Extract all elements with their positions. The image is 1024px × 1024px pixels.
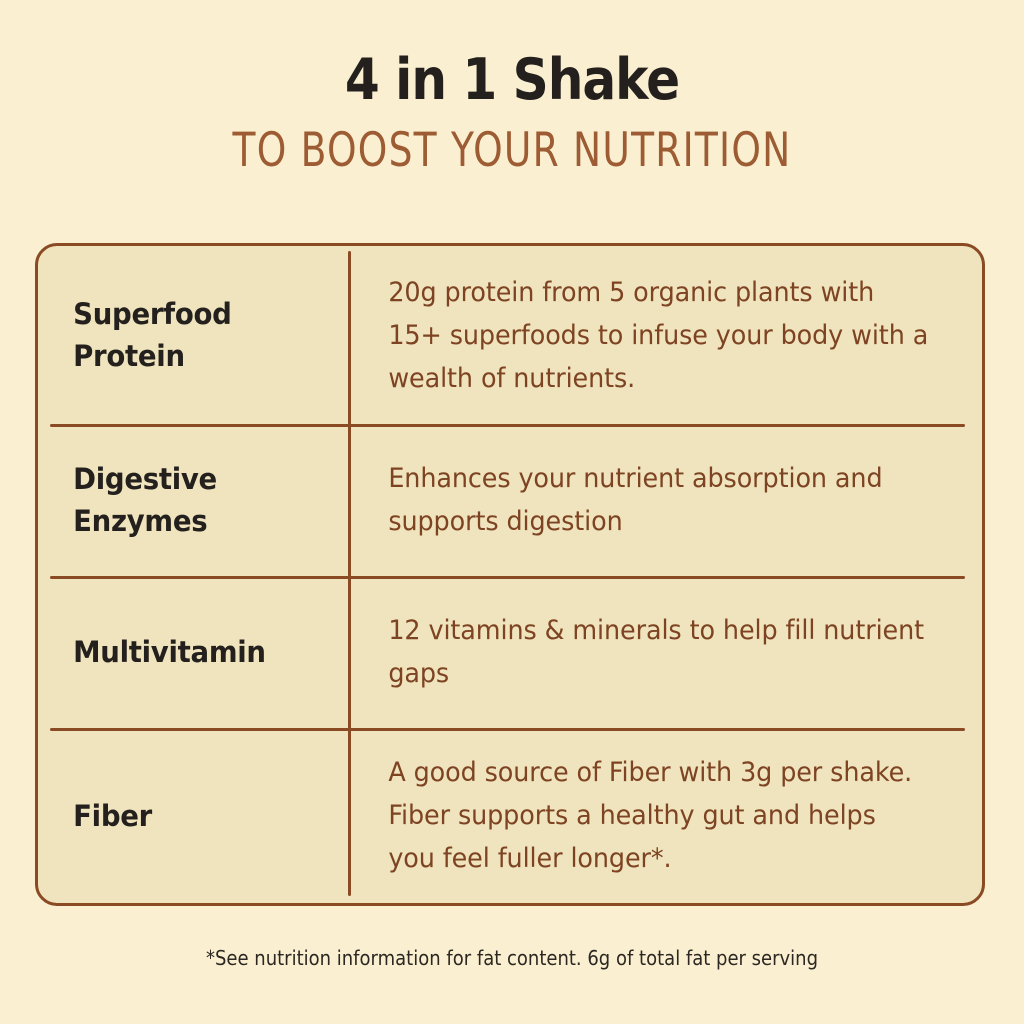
header: 4 in 1 Shake TO BOOST YOUR NUTRITION: [0, 0, 1024, 176]
benefits-table: Superfood Protein 20g protein from 5 org…: [35, 243, 985, 906]
page-title: 4 in 1 Shake: [61, 0, 962, 110]
page-subtitle: TO BOOST YOUR NUTRITION: [102, 110, 921, 176]
table-row: Superfood Protein 20g protein from 5 org…: [38, 246, 982, 424]
table-row: Multivitamin 12 vitamins & minerals to h…: [38, 576, 982, 728]
row-description: Enhances your nutrient absorption and su…: [348, 457, 957, 543]
row-description: 12 vitamins & minerals to help fill nutr…: [348, 609, 957, 695]
row-description: 20g protein from 5 organic plants with 1…: [348, 271, 957, 400]
footnote: *See nutrition information for fat conte…: [0, 945, 1024, 971]
row-label: Fiber: [38, 795, 333, 837]
table-rows: Superfood Protein 20g protein from 5 org…: [38, 246, 982, 903]
row-label: Digestive Enzymes: [38, 458, 333, 542]
row-description: A good source of Fiber with 3g per shake…: [348, 751, 957, 880]
table-row: Digestive Enzymes Enhances your nutrient…: [38, 424, 982, 576]
row-label: Superfood Protein: [38, 293, 333, 377]
row-label: Multivitamin: [38, 631, 333, 673]
table-row: Fiber A good source of Fiber with 3g per…: [38, 728, 982, 903]
footnote-text: *See nutrition information for fat conte…: [206, 945, 818, 971]
